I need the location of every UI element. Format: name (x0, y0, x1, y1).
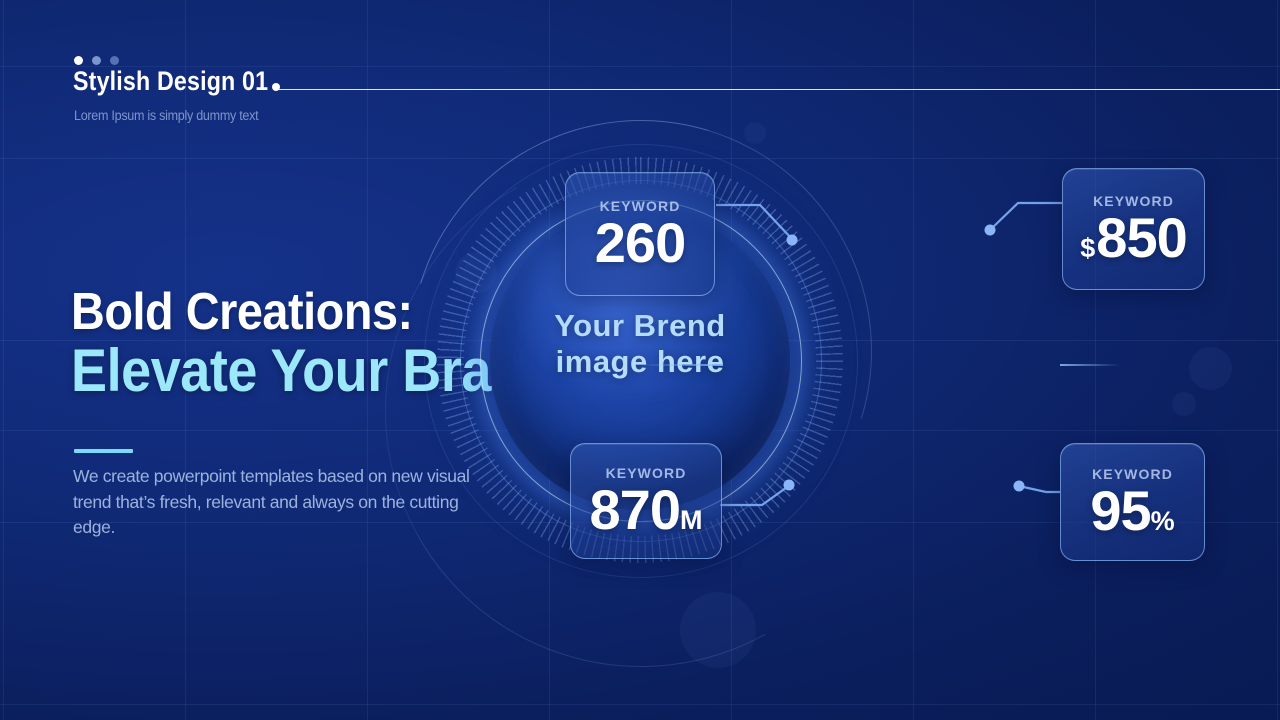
stat-card-top-left[interactable]: KEYWORD 260 (565, 172, 715, 296)
center-image-placeholder: Your Brend image here (480, 308, 800, 381)
stat-value: 870M (590, 482, 703, 538)
page-subtitle: Lorem Ipsum is simply dummy text (74, 108, 258, 123)
stat-card-bottom-right[interactable]: KEYWORD 95% (1060, 443, 1205, 561)
header-dot-1 (74, 56, 83, 65)
accent-bar (74, 449, 133, 453)
stat-number: 95 (1090, 483, 1150, 539)
stat-number: 850 (1096, 210, 1186, 266)
bokeh-circle-right-small (1172, 392, 1196, 416)
side-accent-line-right (1060, 364, 1120, 366)
stat-value: 95% (1090, 483, 1174, 539)
center-label-line1: Your Brend (554, 308, 726, 343)
stat-unit-suffix: % (1151, 508, 1175, 535)
stat-number: 260 (595, 215, 685, 271)
stat-value: 260 (595, 215, 685, 271)
bokeh-circle-top (744, 122, 766, 144)
center-label-line2: image here (556, 344, 725, 379)
stat-number: 870 (590, 482, 680, 538)
page-title: Stylish Design 01 (73, 66, 268, 97)
header-dot-3 (110, 56, 119, 65)
stat-unit-prefix: $ (1080, 235, 1095, 262)
header-dot-2 (92, 56, 101, 65)
connector-node-top-right (985, 225, 996, 236)
side-accent-line-left (641, 364, 723, 366)
stat-unit-suffix: M (680, 507, 703, 534)
connector-node-bottom-right (1014, 481, 1025, 492)
stat-card-bottom-left[interactable]: KEYWORD 870M (570, 443, 722, 559)
stat-value: $850 (1080, 210, 1186, 266)
header-divider (279, 89, 1280, 90)
header-dots (74, 56, 119, 65)
stat-card-top-right[interactable]: KEYWORD $850 (1062, 168, 1205, 290)
bokeh-circle-right (1189, 347, 1232, 390)
slide-canvas: Stylish Design 01 Lorem Ipsum is simply … (0, 0, 1280, 720)
